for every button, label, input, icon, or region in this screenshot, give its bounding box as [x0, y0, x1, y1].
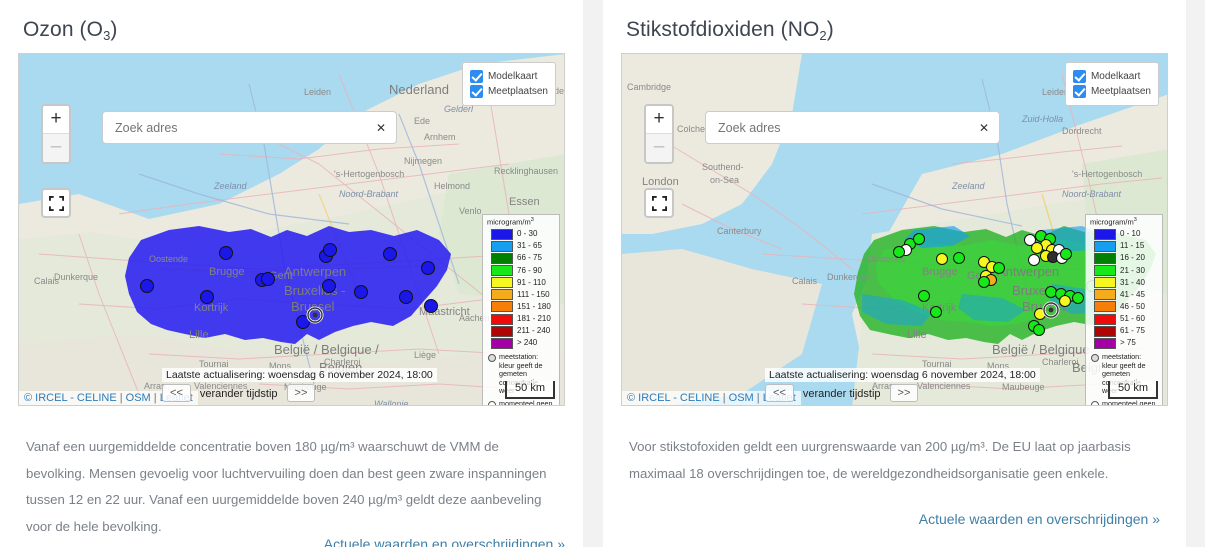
station-marker[interactable]	[930, 306, 942, 318]
legend-row: > 75	[1090, 337, 1158, 349]
station-marker[interactable]	[1033, 324, 1045, 336]
map-place-label: België / Belgique /	[274, 342, 379, 357]
legend-swatch	[491, 326, 513, 337]
legend-row: 111 - 150	[487, 289, 555, 301]
legend-row: 211 - 240	[487, 325, 555, 337]
title-main: Stikstofdioxiden (NO	[626, 18, 819, 41]
legend-row: 66 - 75	[487, 253, 555, 265]
map-place-label: Canterbury	[717, 226, 762, 236]
legend-swatch	[491, 265, 513, 276]
zoom-control-ozone[interactable]: + –	[41, 104, 71, 164]
station-nodata-icon	[488, 401, 496, 406]
legend-row: 0 - 30	[487, 228, 555, 240]
map-place-label: Lille	[189, 329, 209, 341]
legend-swatch	[1094, 265, 1116, 276]
zoom-in-button[interactable]: +	[646, 106, 672, 134]
map-place-label: Dunkerque	[827, 272, 871, 282]
attribution-osm[interactable]: OSM	[729, 392, 754, 404]
station-marker[interactable]	[354, 285, 368, 299]
legend-label: 0 - 10	[1120, 230, 1140, 238]
map-place-label: Brussel	[291, 299, 334, 314]
legend-row: 31 - 40	[1090, 277, 1158, 289]
map-place-label: Maubeuge	[1002, 382, 1045, 392]
station-marker[interactable]	[424, 299, 438, 313]
zoom-out-button[interactable]: –	[646, 134, 672, 162]
map-place-label: Leiden	[304, 87, 331, 97]
legend-row: 46 - 50	[1090, 301, 1158, 313]
link-row-ozone: Actuele waarden en overschrijdingen »	[18, 536, 565, 547]
legend-row: 41 - 45	[1090, 289, 1158, 301]
layer-control-no2[interactable]: Modelkaart Meetplaatsen	[1065, 62, 1159, 106]
legend-swatch	[491, 289, 513, 300]
map-place-label: Hauts-de-	[877, 404, 917, 406]
legend-row: 0 - 10	[1090, 228, 1158, 240]
search-input[interactable]	[113, 120, 370, 136]
legend-swatch	[491, 241, 513, 252]
station-nodata-icon	[1091, 401, 1099, 406]
legend-swatch	[491, 277, 513, 288]
legend-swatch	[1094, 301, 1116, 312]
station-marker[interactable]	[219, 246, 233, 260]
station-marker[interactable]	[421, 261, 435, 275]
legend-label: 151 - 180	[517, 303, 551, 311]
zoom-out-button[interactable]: –	[43, 134, 69, 162]
next-time-button[interactable]: >>	[890, 384, 919, 402]
legend-label: 16 - 20	[1120, 254, 1145, 262]
legend-swatch	[1094, 289, 1116, 300]
description-ozone: Vanaf een uurgemiddelde concentratie bov…	[26, 434, 557, 541]
legend-label: 31 - 40	[1120, 279, 1145, 287]
checkbox-modelkaart[interactable]	[470, 70, 483, 83]
zoom-in-button[interactable]: +	[43, 106, 69, 134]
page-title-no2: Stikstofdioxiden (NO2)	[626, 18, 1168, 42]
fullscreen-button-no2[interactable]	[644, 188, 674, 218]
legend-label: 21 - 30	[1120, 267, 1145, 275]
legend-row: 21 - 30	[1090, 265, 1158, 277]
station-marker[interactable]	[993, 262, 1005, 274]
station-marker[interactable]	[1060, 248, 1072, 260]
station-marker[interactable]	[1028, 254, 1040, 266]
station-marker[interactable]	[893, 246, 905, 258]
legend-row: 16 - 20	[1090, 253, 1158, 265]
map-place-label: Noord-Brabant	[1062, 189, 1121, 199]
legend-row: > 240	[487, 337, 555, 349]
map-place-label: Zeeland	[952, 181, 985, 191]
change-time-label: verander tijdstip	[191, 386, 287, 402]
map-place-label: Arnhem	[424, 132, 456, 142]
legend-swatch	[491, 314, 513, 325]
checkbox-meetplaatsen[interactable]	[1073, 85, 1086, 98]
legend-swatch	[1094, 241, 1116, 252]
station-marker[interactable]	[1072, 292, 1084, 304]
station-marker[interactable]	[953, 252, 965, 264]
legend-label: 31 - 65	[517, 242, 542, 250]
address-search-no2[interactable]: ✕	[705, 111, 1000, 144]
map-place-label: Dordrecht	[1062, 126, 1102, 136]
legend-label: > 240	[517, 339, 537, 347]
legend-row: 51 - 60	[1090, 313, 1158, 325]
map-place-label: Southend-	[702, 162, 744, 172]
map-place-label: Venlo	[459, 206, 482, 216]
description-no2: Voor stikstofoxiden geldt een uurgrenswa…	[629, 434, 1160, 487]
last-update-timestamp: Laatste actualisering: woensdag 6 novemb…	[765, 368, 1040, 382]
map-place-label: Essen	[509, 196, 540, 208]
legend-swatch	[491, 338, 513, 349]
attribution-ircel[interactable]: © IRCEL - CELINE	[24, 392, 117, 404]
station-marker[interactable]	[399, 290, 413, 304]
actuele-waarden-link-ozone[interactable]: Actuele waarden en overschrijdingen »	[324, 536, 565, 547]
map-place-label: Charleroi	[324, 357, 361, 367]
map-place-label: Wallonie	[374, 399, 408, 406]
map-place-label: Nederland	[389, 82, 449, 97]
layer-toggle-meetplaatsen[interactable]: Meetplaatsen	[470, 85, 548, 98]
station-marker[interactable]	[200, 290, 214, 304]
scale-bar-no2: 50 km	[1108, 381, 1158, 399]
map-place-label: Lille	[907, 329, 927, 341]
map-place-label: Antwerpen	[284, 264, 346, 279]
layer-toggle-modelkaart[interactable]: Modelkaart	[470, 70, 548, 83]
legend-unit: microgram/m3	[487, 218, 555, 226]
legend-label: 76 - 90	[517, 267, 542, 275]
clear-icon[interactable]: ✕	[973, 121, 989, 135]
station-marker[interactable]	[383, 247, 397, 261]
prev-time-button[interactable]: <<	[162, 384, 191, 402]
map-place-label: 's-Hertogenbosch	[1072, 169, 1142, 179]
legend-swatch	[1094, 314, 1116, 325]
title-main: Ozon (O	[23, 18, 103, 41]
address-search-ozone[interactable]: ✕	[102, 111, 397, 144]
legend-row: 181 - 210	[487, 313, 555, 325]
map-no2[interactable]: CambridgeNederlanLeidenColchesterZuid-Ho…	[621, 53, 1168, 406]
station-marker[interactable]	[913, 233, 925, 245]
layer-toggle-modelkaart[interactable]: Modelkaart	[1073, 70, 1151, 83]
station-marker[interactable]	[261, 272, 275, 286]
legend-label: 111 - 150	[517, 291, 550, 299]
legend-ozone: microgram/m3 0 - 3031 - 6566 - 7576 - 90…	[482, 214, 560, 406]
station-marker[interactable]	[323, 243, 337, 257]
fullscreen-icon	[49, 196, 64, 211]
legend-label: 51 - 60	[1120, 315, 1145, 323]
layer-label: Meetplaatsen	[1091, 86, 1151, 97]
legend-swatch	[1094, 338, 1116, 349]
last-update-timestamp: Laatste actualisering: woensdag 6 novemb…	[162, 368, 437, 382]
legend-swatch	[1094, 229, 1116, 240]
map-place-label: Kortrijk	[194, 302, 228, 314]
prev-time-button[interactable]: <<	[765, 384, 794, 402]
station-marker[interactable]	[140, 279, 154, 293]
map-place-label: Nijmegen	[404, 156, 442, 166]
map-ozone[interactable]: NederlandEnschedeLeidenGelderlZuid-Holla…	[18, 53, 565, 406]
attribution-ircel[interactable]: © IRCEL - CELINE	[627, 392, 720, 404]
map-place-label: Ede	[414, 116, 430, 126]
station-marker[interactable]	[978, 276, 990, 288]
map-place-label: Calais	[34, 276, 59, 286]
checkbox-meetplaatsen[interactable]	[470, 85, 483, 98]
layer-label: Modelkaart	[488, 71, 537, 82]
attribution-osm[interactable]: OSM	[126, 392, 151, 404]
map-place-label: Cambridge	[627, 82, 671, 92]
legend-label: 211 - 240	[517, 327, 550, 335]
legend-label: 0 - 30	[517, 230, 537, 238]
legend-note-nodata: momenteel geen gegevens beschikbaar	[487, 400, 555, 406]
map-place-label: Noord-Brabant	[339, 189, 398, 199]
search-input[interactable]	[716, 120, 973, 136]
station-marker[interactable]	[936, 253, 948, 265]
map-place-label: Valenciennes	[917, 381, 970, 391]
station-marker-icon	[1091, 354, 1099, 362]
map-place-label: Dunkerque	[54, 272, 98, 282]
page-title-ozone: Ozon (O3)	[23, 18, 565, 42]
next-time-button[interactable]: >>	[287, 384, 316, 402]
legend-label: > 75	[1120, 339, 1136, 347]
legend-label: 91 - 110	[517, 279, 546, 287]
link-row-no2: Actuele waarden en overschrijdingen »	[629, 511, 1160, 529]
legend-row: 61 - 75	[1090, 325, 1158, 337]
map-place-label: Brugge	[922, 266, 957, 278]
panel-no2: Stikstofdioxiden (NO2)	[603, 0, 1186, 547]
map-place-label: Calais	[792, 276, 817, 286]
map-place-label: Brugge	[209, 266, 244, 278]
change-time-label: verander tijdstip	[794, 386, 890, 402]
time-controls-ozone[interactable]: Laatste actualisering: woensdag 6 novemb…	[162, 384, 315, 402]
map-place-label: België / Belgique	[992, 342, 1090, 357]
station-marker[interactable]	[918, 290, 930, 302]
legend-label: 46 - 50	[1120, 303, 1145, 311]
map-place-label: on-Sea	[710, 175, 739, 185]
dashboard: Ozon (O3)	[0, 0, 1205, 547]
checkbox-modelkaart[interactable]	[1073, 70, 1086, 83]
legend-swatch	[1094, 253, 1116, 264]
fullscreen-icon	[652, 196, 667, 211]
legend-swatch	[491, 253, 513, 264]
legend-label: 61 - 75	[1120, 327, 1145, 335]
legend-row: 76 - 90	[487, 265, 555, 277]
map-place-label: Antwerpen	[997, 264, 1059, 279]
station-marker[interactable]	[322, 279, 336, 293]
map-place-label: Helmond	[434, 181, 470, 191]
map-place-label: Zeeland	[214, 181, 247, 191]
time-controls-no2[interactable]: Laatste actualisering: woensdag 6 novemb…	[765, 384, 918, 402]
legend-no2: microgram/m3 0 - 1011 - 1516 - 2021 - 30…	[1085, 214, 1163, 406]
legend-label: 181 - 210	[517, 315, 551, 323]
legend-label: 41 - 45	[1120, 291, 1145, 299]
map-place-label: Oostende	[149, 254, 188, 264]
map-place-label: Charleroi	[1042, 357, 1079, 367]
zoom-control-no2[interactable]: + –	[644, 104, 674, 164]
map-place-label: Recklinghausen	[494, 166, 558, 176]
legend-swatch	[1094, 326, 1116, 337]
map-place-label: 's-Hertogenbosch	[334, 169, 404, 179]
fullscreen-button-ozone[interactable]	[41, 188, 71, 218]
legend-swatch	[1094, 277, 1116, 288]
legend-row: 91 - 110	[487, 277, 555, 289]
title-end: )	[827, 18, 834, 41]
title-subscript: 2	[819, 28, 826, 43]
scale-bar-ozone: 50 km	[505, 381, 555, 399]
layer-control-ozone[interactable]: Modelkaart Meetplaatsen	[462, 62, 556, 106]
legend-swatch	[491, 301, 513, 312]
map-place-label: Liège	[414, 350, 436, 360]
legend-row: 31 - 65	[487, 240, 555, 252]
map-place-label: Bruxelles -	[284, 283, 345, 298]
station-marker[interactable]	[1059, 295, 1071, 307]
legend-row: 11 - 15	[1090, 240, 1158, 252]
map-place-label: Zuid-Holla	[1022, 114, 1063, 124]
title-end: )	[110, 18, 117, 41]
legend-label: 11 - 15	[1120, 242, 1144, 250]
legend-label: 66 - 75	[517, 254, 542, 262]
legend-row: 151 - 180	[487, 301, 555, 313]
panel-ozone: Ozon (O3)	[0, 0, 583, 547]
station-marker[interactable]	[296, 315, 310, 329]
station-marker[interactable]	[1034, 308, 1046, 320]
legend-swatch	[491, 229, 513, 240]
legend-unit: microgram/m3	[1090, 218, 1158, 226]
actuele-waarden-link-no2[interactable]: Actuele waarden en overschrijdingen »	[919, 511, 1160, 527]
legend-note-nodata: momenteel geen gegevens beschikbaar	[1090, 400, 1158, 406]
title-subscript: 3	[103, 28, 110, 43]
layer-label: Modelkaart	[1091, 71, 1140, 82]
layer-label: Meetplaatsen	[488, 86, 548, 97]
layer-toggle-meetplaatsen[interactable]: Meetplaatsen	[1073, 85, 1151, 98]
station-marker-icon	[488, 354, 496, 362]
map-place-label: London	[642, 176, 679, 188]
clear-icon[interactable]: ✕	[370, 121, 386, 135]
